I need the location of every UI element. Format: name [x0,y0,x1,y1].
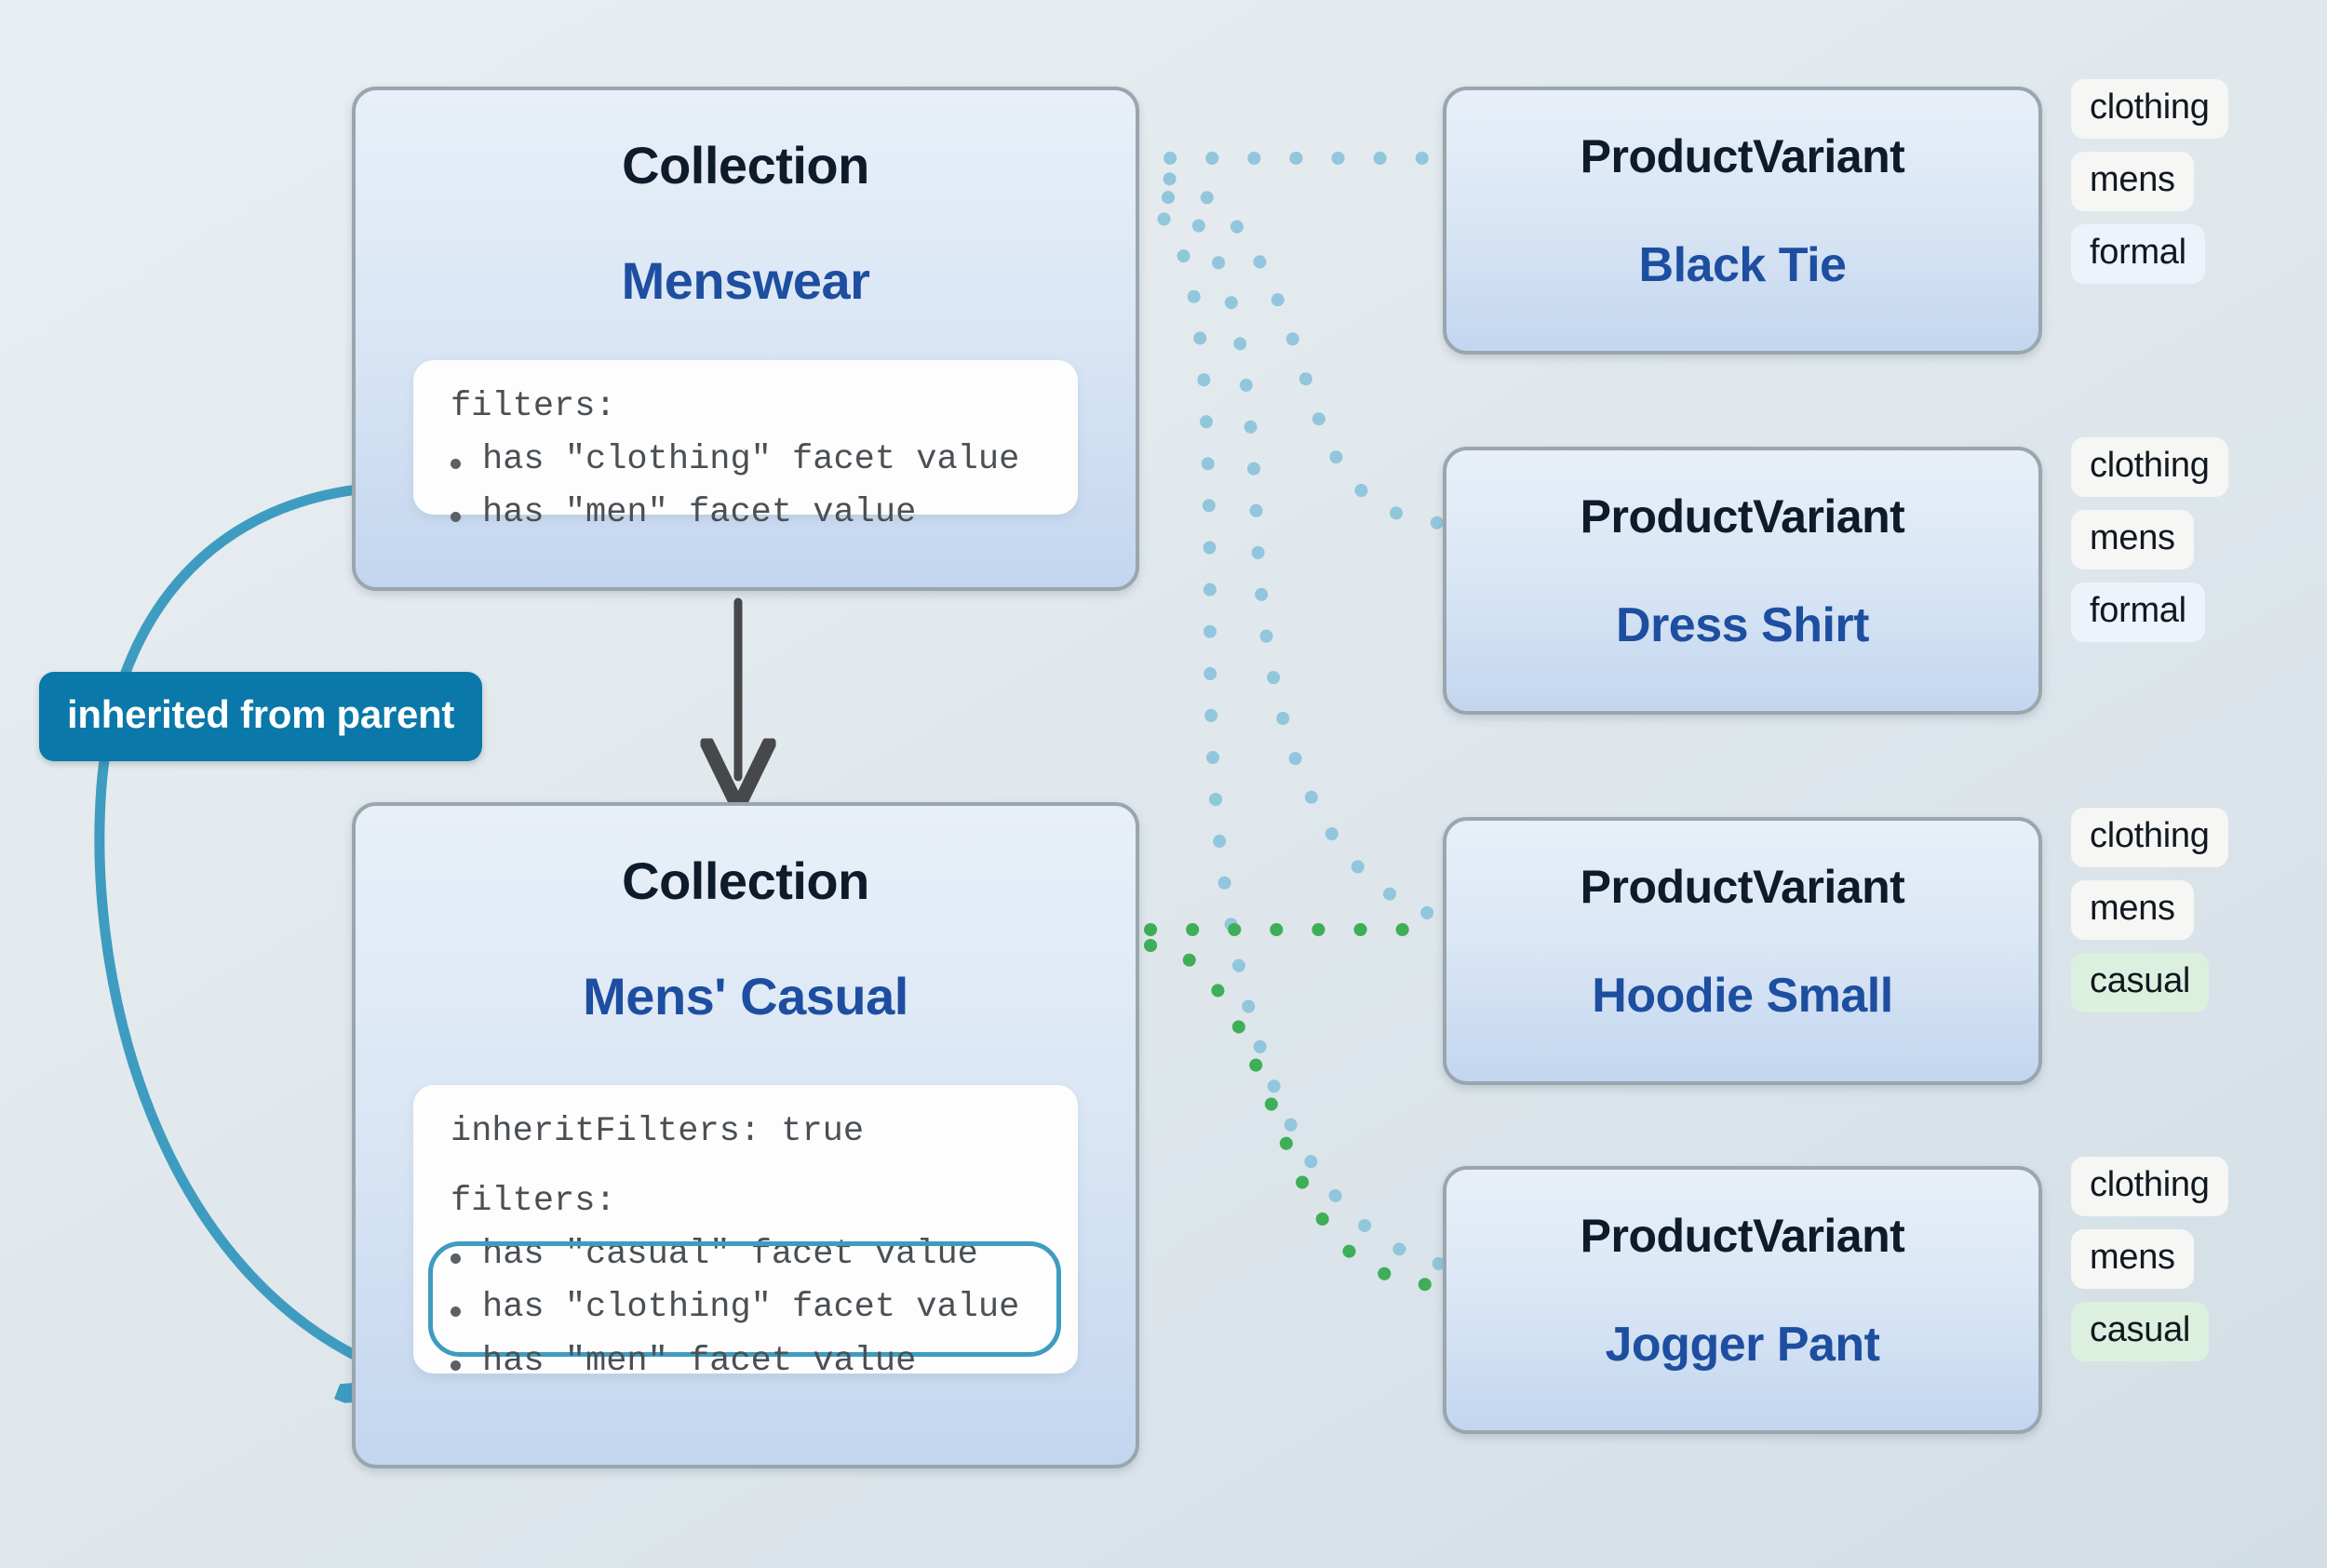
collection-card-menswear[interactable]: Collection Menswear filters: has "clothi… [352,87,1139,591]
filters-heading: filters: [413,386,1078,428]
inherited-filter-item: has "clothing" facet value [413,1287,1078,1329]
product-variant-card-hoodie-small[interactable]: ProductVariant Hoodie Small [1443,817,2042,1085]
facet-tags-dress-shirt: clothing mens formal [2071,437,2294,655]
facet-tag[interactable]: clothing [2071,437,2228,497]
inherit-filters-line: inheritFilters: true [413,1111,1078,1153]
variant-type-label: ProductVariant [1446,489,2038,543]
diagram-canvas: Collection Menswear filters: has "clothi… [0,0,2327,1568]
facet-tag[interactable]: casual [2071,1302,2209,1361]
product-variant-card-dress-shirt[interactable]: ProductVariant Dress Shirt [1443,447,2042,715]
panel-spacer [413,1153,1078,1181]
filter-item: has "men" facet value [413,492,1078,534]
facet-tag[interactable]: mens [2071,1229,2194,1289]
collection-type-label: Collection [356,135,1136,195]
wire-menswear-dress-shirt [1128,173,1439,523]
variant-name: Black Tie [1446,237,2038,293]
inherited-filter-item: has "men" facet value [413,1341,1078,1383]
variant-name: Hoodie Small [1446,968,2038,1024]
facet-tag[interactable]: clothing [2071,79,2228,139]
facet-tag[interactable]: clothing [2071,1157,2228,1216]
filters-panel: inheritFilters: true filters: has "casua… [413,1085,1078,1374]
facet-tag[interactable]: formal [2071,583,2205,642]
collection-type-label: Collection [356,851,1136,911]
facet-tag[interactable]: mens [2071,152,2194,211]
collection-name: Mens' Casual [356,966,1136,1026]
variant-type-label: ProductVariant [1446,129,2038,183]
facet-tag[interactable]: mens [2071,880,2194,940]
facet-tag[interactable]: clothing [2071,808,2228,867]
product-variant-card-black-tie[interactable]: ProductVariant Black Tie [1443,87,2042,355]
variant-name: Dress Shirt [1446,597,2038,653]
product-variant-card-jogger-pant[interactable]: ProductVariant Jogger Pant [1443,1166,2042,1434]
variant-type-label: ProductVariant [1446,860,2038,914]
wire-menswear-jogger-pant [1128,199,1439,1264]
variant-name: Jogger Pant [1446,1317,2038,1373]
filter-item: has "clothing" facet value [413,439,1078,481]
filters-list: has "clothing" facet value has "men" fac… [413,439,1078,534]
wire-mens-casual-jogger-pant [1150,945,1439,1286]
filters-heading: filters: [413,1181,1078,1223]
collection-card-mens-casual[interactable]: Collection Mens' Casual inheritFilters: … [352,802,1139,1468]
filters-panel: filters: has "clothing" facet value has … [413,360,1078,515]
variant-type-label: ProductVariant [1446,1209,2038,1263]
collection-name: Menswear [356,250,1136,311]
facet-tag[interactable]: mens [2071,510,2194,570]
inherited-from-parent-badge: inherited from parent [39,672,482,761]
facet-tag[interactable]: formal [2071,224,2205,284]
facet-tags-hoodie-small: clothing mens casual [2071,808,2294,1025]
wire-menswear-hoodie-small [1128,186,1439,917]
facet-tags-jogger-pant: clothing mens casual [2071,1157,2294,1374]
facet-tags-black-tie: clothing mens formal [2071,79,2294,297]
facet-tag[interactable]: casual [2071,953,2209,1012]
